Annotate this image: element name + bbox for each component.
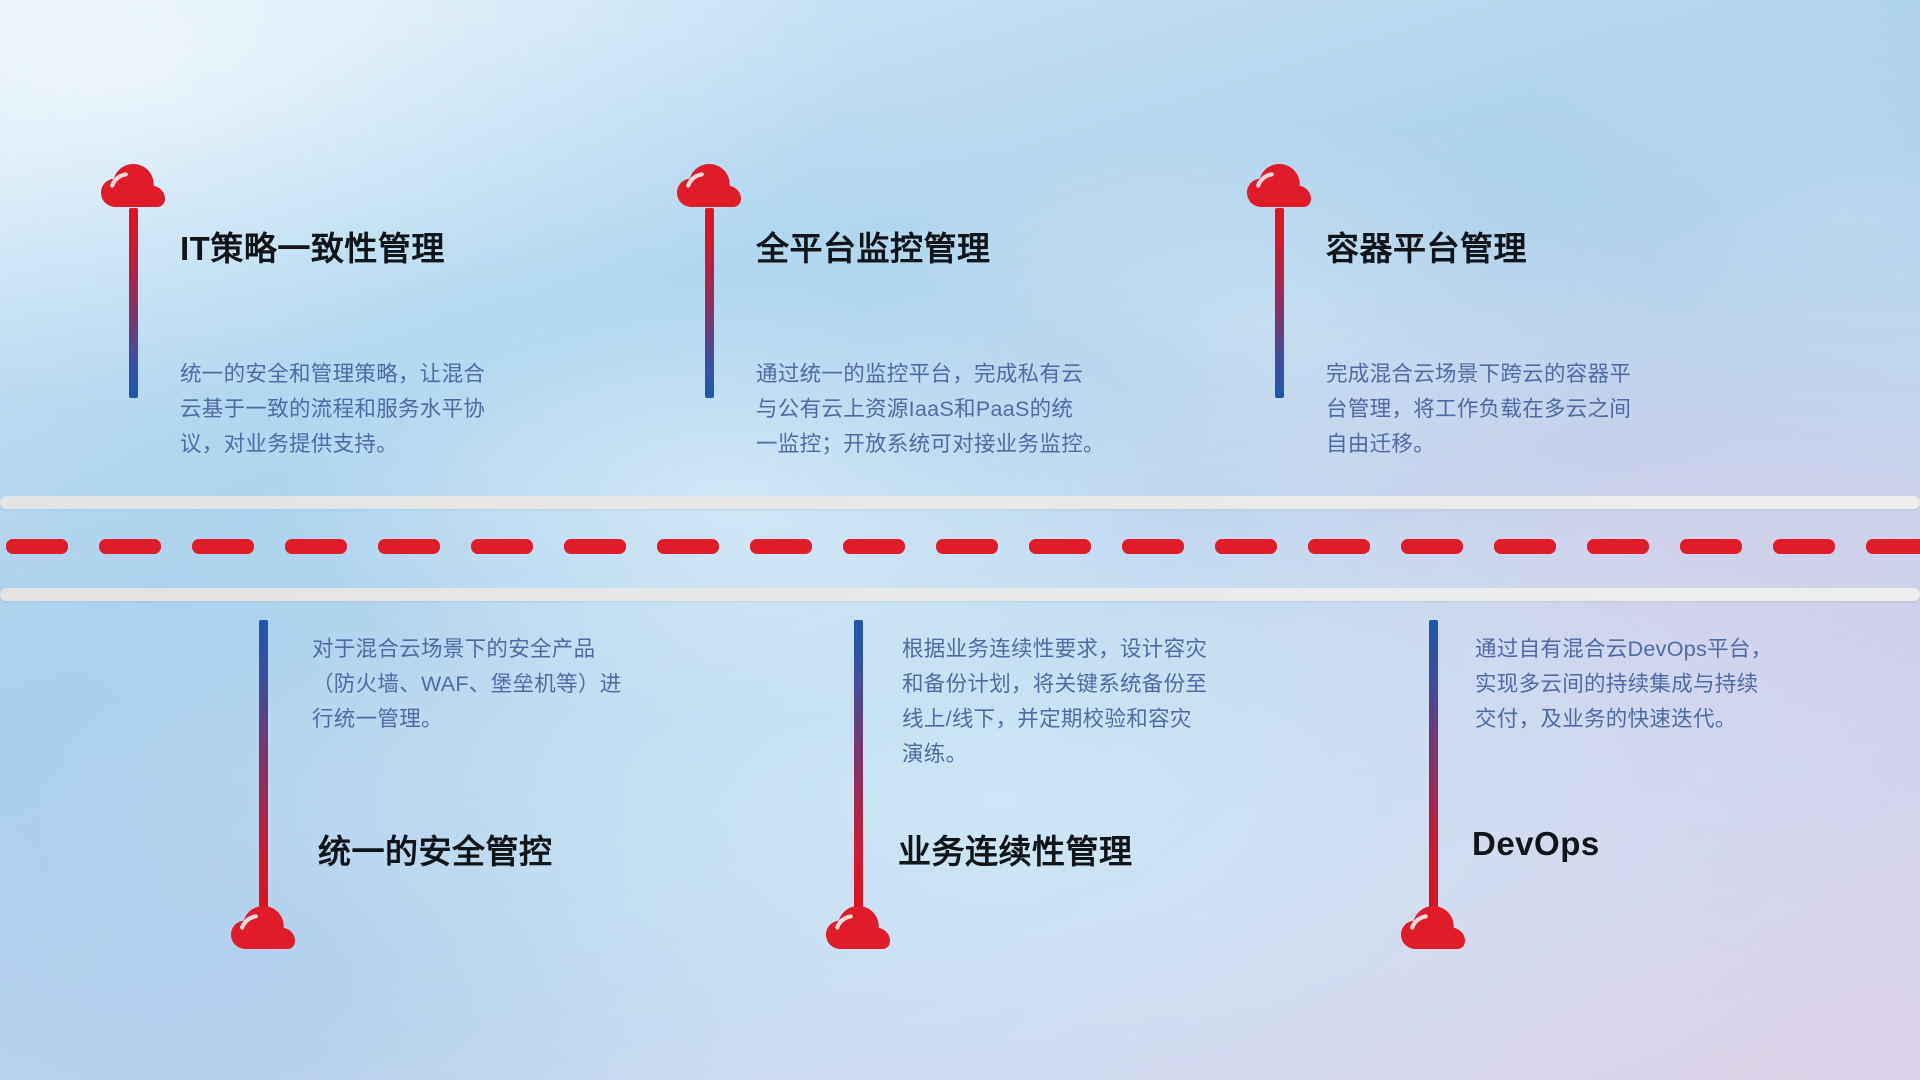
road-edge-bottom [0, 588, 1920, 601]
pin-it-policy-consistency [100, 163, 166, 208]
road-dash [657, 539, 719, 554]
heading-container-platform-management: 容器平台管理 [1326, 222, 1527, 270]
road-dash [6, 539, 68, 554]
body-container-platform-management: 完成混合云场景下跨云的容器平 台管理，将工作负载在多云之间 自由迁移。 [1326, 357, 1766, 462]
road-dash [843, 539, 905, 554]
road-dash [378, 539, 440, 554]
heading-it-policy-consistency: IT策略一致性管理 [180, 222, 445, 270]
road-dash [192, 539, 254, 554]
road-dash [1680, 539, 1742, 554]
stem-line [1275, 208, 1284, 398]
road-dash [1401, 539, 1463, 554]
road-dash [1773, 539, 1835, 554]
body-devops: 通过自有混合云DevOps平台， 实现多云间的持续集成与持续 交付，及业务的快速… [1475, 632, 1895, 737]
stem-line [705, 208, 714, 398]
road-dash [1308, 539, 1370, 554]
cloud-icon [676, 163, 742, 208]
road-dash [1866, 539, 1920, 554]
road-dash [564, 539, 626, 554]
body-unified-security-control: 对于混合云场景下的安全产品 （防火墙、WAF、堡垒机等）进 行统一管理。 [312, 632, 742, 737]
heading-unified-security-control: 统一的安全管控 [318, 825, 553, 873]
road-dash [1215, 539, 1277, 554]
heading-business-continuity-management: 业务连续性管理 [898, 825, 1133, 873]
road-dash [1494, 539, 1556, 554]
road-dash [285, 539, 347, 554]
road-edge-top [0, 496, 1920, 509]
cloud-icon [1246, 163, 1312, 208]
cloud-icon [230, 905, 296, 950]
road-dash [471, 539, 533, 554]
road-dash [1587, 539, 1649, 554]
pin-container-platform-management [1246, 163, 1312, 208]
road-dash [1029, 539, 1091, 554]
infographic-canvas: IT策略一致性管理 统一的安全和管理策略，让混合 云基于一致的流程和服务水平协 … [0, 0, 1920, 1080]
cloud-icon [825, 905, 891, 950]
road-dash [99, 539, 161, 554]
body-business-continuity-management: 根据业务连续性要求，设计容灾 和备份计划，将关键系统备份至 线上/线下，并定期校… [902, 632, 1332, 772]
stem-line [854, 620, 863, 910]
pin-full-platform-monitoring [676, 163, 742, 208]
road-dash [936, 539, 998, 554]
road-dash [1122, 539, 1184, 554]
stem-line [1429, 620, 1438, 910]
road-center-dashes [0, 539, 1920, 554]
stem-line [259, 620, 268, 910]
body-full-platform-monitoring: 通过统一的监控平台，完成私有云 与公有云上资源IaaS和PaaS的统 一监控；开… [756, 357, 1206, 462]
road-dash [750, 539, 812, 554]
body-it-policy-consistency: 统一的安全和管理策略，让混合 云基于一致的流程和服务水平协 议，对业务提供支持。 [180, 357, 610, 462]
heading-full-platform-monitoring: 全平台监控管理 [756, 222, 991, 270]
cloud-icon [100, 163, 166, 208]
stem-line [129, 208, 138, 398]
heading-devops: DevOps [1472, 825, 1600, 863]
cloud-icon [1400, 905, 1466, 950]
